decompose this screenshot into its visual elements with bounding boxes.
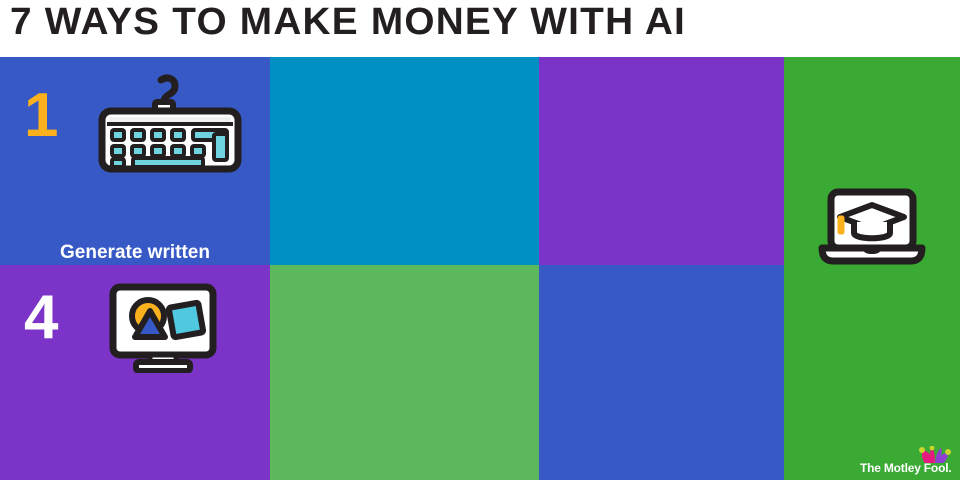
infographic-root: 7 WAYS TO MAKE MONEY WITH AI 1	[0, 0, 960, 480]
card-5-build-websites[interactable]: 5	[270, 265, 539, 480]
keyboard-icon	[95, 70, 245, 180]
motley-fool-wordmark: The Motley Fool.	[860, 461, 951, 475]
header: 7 WAYS TO MAKE MONEY WITH AI	[0, 0, 960, 57]
motley-fool-logo: The Motley Fool.	[860, 446, 952, 476]
card-4-number: 4	[24, 287, 58, 349]
card-4-make-ai-generated-digital-visual-products[interactable]: 4 Make AI-generated digital visual produ…	[0, 265, 270, 480]
card-7-create-online-courses[interactable]: 7 Create online courses	[784, 57, 960, 480]
card-6-generate-audio-ai-content[interactable]: 6 Generate audio AI content	[539, 265, 784, 480]
monitor-shapes-icon	[108, 283, 218, 378]
card-2-create-ai-generated-art[interactable]: 2 Create AI-generated art	[270, 57, 539, 265]
card-1-generate-written-ai-content[interactable]: 1	[0, 57, 270, 265]
page-title: 7 WAYS TO MAKE MONEY WITH AI	[10, 1, 686, 44]
card-1-number: 1	[24, 85, 58, 147]
cards-grid: 1	[0, 57, 960, 480]
card-1-caption: Generate written AI content	[0, 240, 270, 265]
laptop-graduation-cap-icon	[818, 188, 926, 273]
card-3-create-youtube-videos[interactable]: 3 Create YouTube videos	[539, 57, 784, 265]
